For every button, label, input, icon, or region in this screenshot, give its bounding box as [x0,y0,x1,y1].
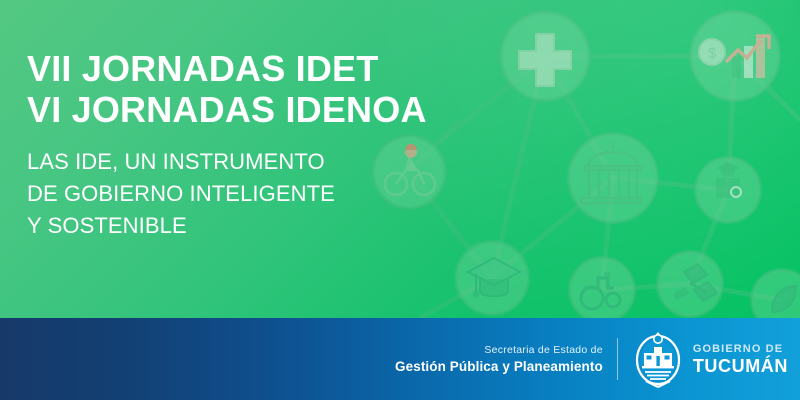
headline-block: VII JORNADAS IDET VI JORNADAS IDENOA LAS… [27,48,427,242]
secretaria-line-2: Gestión Pública y Planeamiento [395,358,603,376]
tucuman-coat-of-arms-icon [632,329,684,389]
secretaria-block: Secretaria de Estado de Gestión Pública … [395,343,603,376]
secretaria-line-1: Secretaria de Estado de [395,343,603,358]
graduate-person-icon [716,162,741,198]
subtitle-line-1: LAS IDE, UN INSTRUMENTO [27,146,427,178]
subtitle-line-2: DE GOBIERNO INTELIGENTE [27,178,427,210]
hero-green-panel: $ [0,0,800,318]
government-line-1: GOBIERNO DE [693,342,788,356]
footer-divider [617,338,618,380]
headline-line-1: VII JORNADAS IDET [27,48,427,89]
government-line-2: TUCUMÁN [693,356,788,377]
svg-text:$: $ [708,45,717,62]
node-circle-agro [570,258,634,318]
event-banner: $ [0,0,800,400]
government-logo: GOBIERNO DE TUCUMÁN [632,329,788,389]
subtitle-line-3: Y SOSTENIBLE [27,210,427,242]
footer-bar: Secretaria de Estado de Gestión Pública … [0,318,800,400]
headline-line-2: VI JORNADAS IDENOA [27,89,427,130]
